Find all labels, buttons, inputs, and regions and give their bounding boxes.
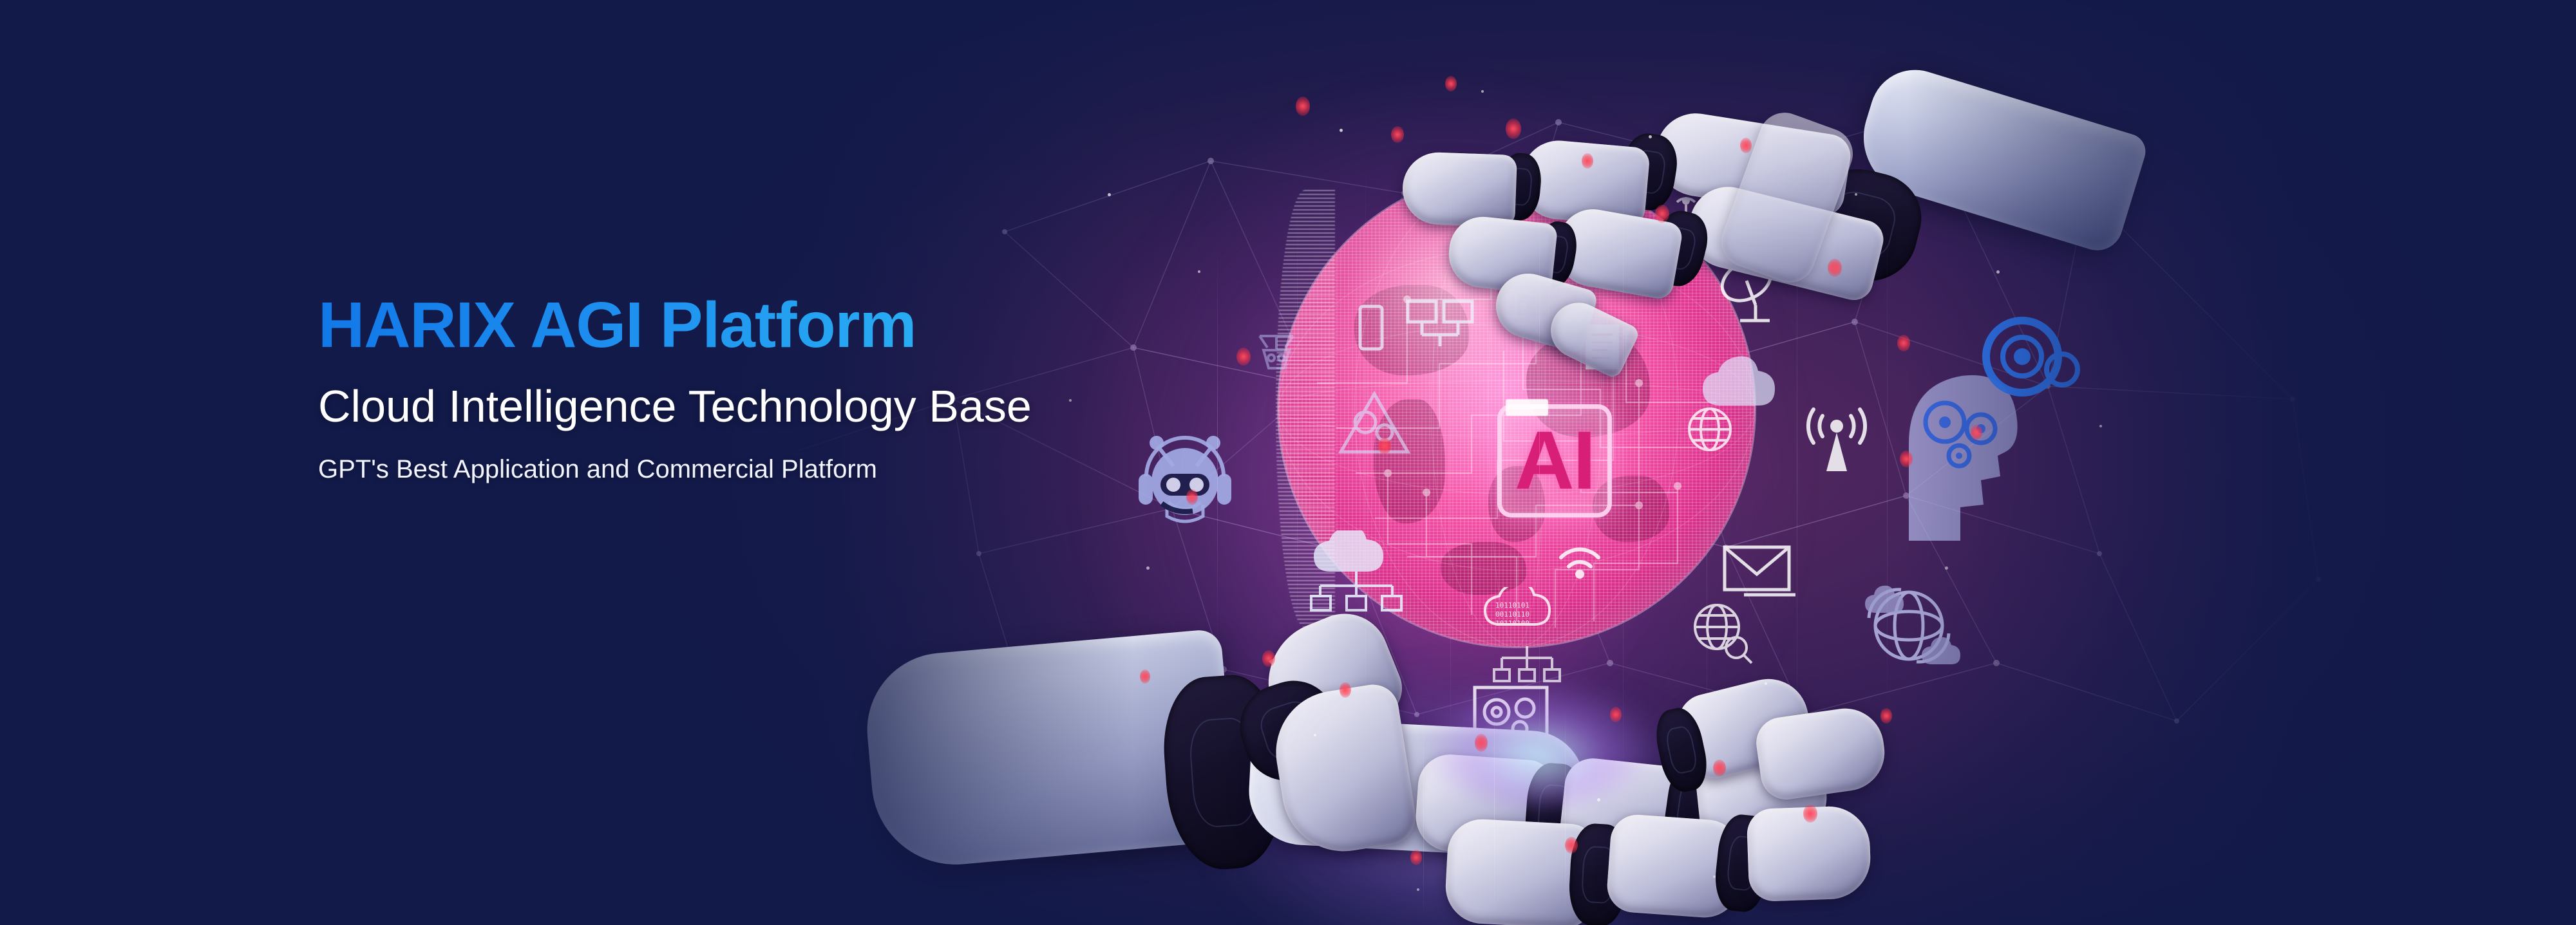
hero-banner: AI <box>0 0 2576 925</box>
page-title: HARIX AGI Platform <box>318 293 1413 357</box>
hero-copy: HARIX AGI Platform Cloud Intelligence Te… <box>318 293 1413 483</box>
page-subtitle: Cloud Intelligence Technology Base <box>318 383 1413 431</box>
page-tagline: GPT's Best Application and Commercial Pl… <box>318 455 1413 483</box>
